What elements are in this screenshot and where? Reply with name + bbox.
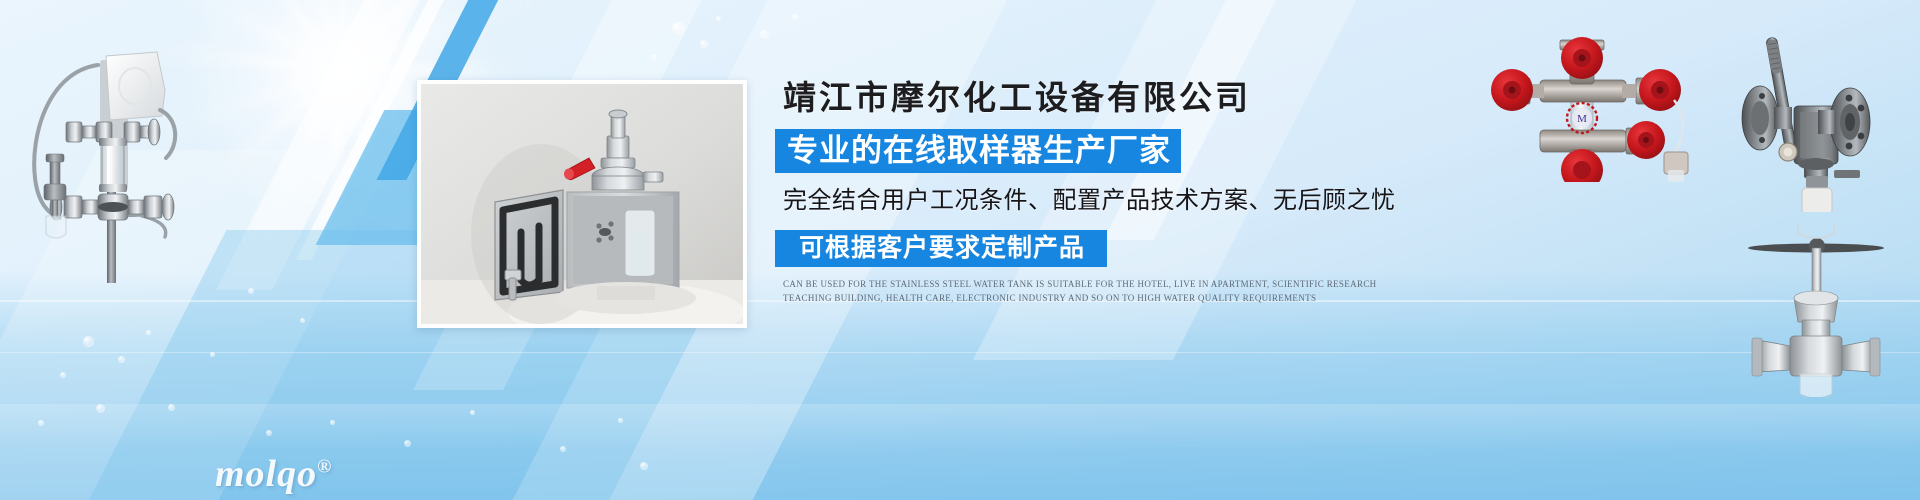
- headline-subline: 完全结合用户工况条件、配置产品技术方案、无后顾之忧: [775, 184, 1395, 218]
- water-droplet: [792, 14, 798, 20]
- headline-primary: 专业的在线取样器生产厂家: [775, 129, 1181, 173]
- water-droplet: [651, 54, 657, 60]
- product-image-flanged-lever-valve: [1706, 12, 1916, 212]
- product-image-cross-valve-manifold: M: [1478, 22, 1700, 182]
- product-photo-sampling-cabinet: [417, 80, 747, 328]
- water-droplet: [760, 30, 769, 39]
- company-title: 靖江市摩尔化工设备有限公司: [775, 78, 1395, 120]
- water-droplet: [716, 16, 721, 21]
- brand-watermark: molqo®: [215, 452, 332, 496]
- water-droplet: [700, 40, 708, 48]
- product-image-online-sampler-valve-assembly: [2, 18, 202, 283]
- svg-text:M: M: [1577, 113, 1587, 125]
- promo-banner: M: [0, 0, 1920, 500]
- english-caption: CAN BE USED FOR THE STAINLESS STEEL WATE…: [775, 278, 1383, 305]
- watermark-text: molqo: [215, 453, 317, 495]
- registered-mark-icon: ®: [317, 456, 332, 477]
- diagonal-stripe: [216, 0, 440, 290]
- headline-secondary: 可根据客户要求定制产品: [775, 230, 1107, 267]
- water-droplet: [672, 22, 685, 35]
- banner-copy-block: 靖江市摩尔化工设备有限公司 专业的在线取样器生产厂家 完全结合用户工况条件、配置…: [775, 78, 1395, 318]
